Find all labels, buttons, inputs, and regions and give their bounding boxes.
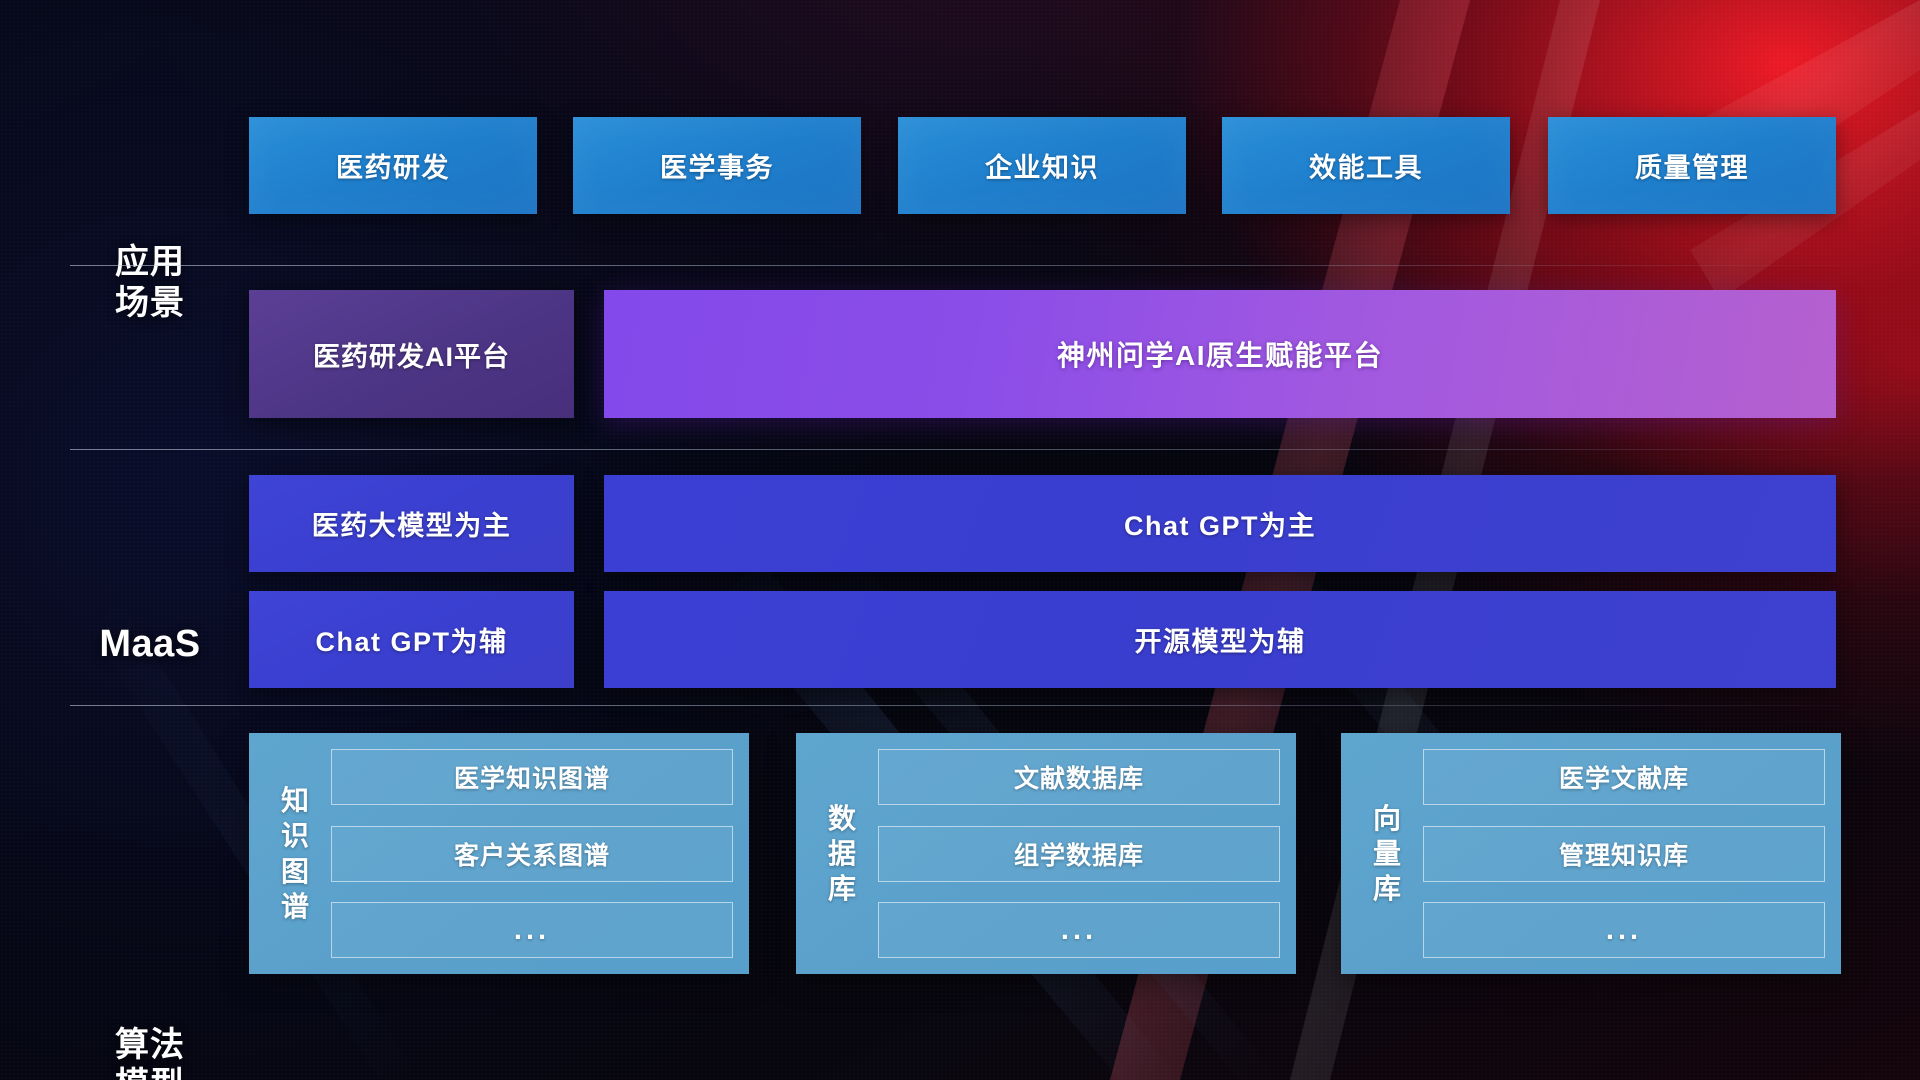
scene-box-2[interactable]: 医学事务 — [573, 117, 861, 214]
row-label-line-1: 应用 — [70, 242, 230, 282]
knowledge-card-2-title: 数据库 — [806, 747, 878, 960]
scene-box-5-label: 质量管理 — [1635, 146, 1749, 185]
divider-3 — [70, 705, 1842, 706]
algo-band-2-left[interactable]: Chat GPT为辅 — [249, 591, 574, 688]
knowledge-card-2-item-1-label: 文献数据库 — [1014, 759, 1144, 795]
knowledge-card-3-item-1-label: 医学文献库 — [1559, 759, 1689, 795]
knowledge-card-2-title-text: 数据库 — [828, 801, 856, 907]
architecture-diagram: 应用 场景 医药研发 医学事务 企业知识 效能工具 质量管理 MaaS — [0, 0, 1920, 1080]
knowledge-card-3-items: 医学文献库 管理知识库 ... — [1423, 747, 1825, 960]
knowledge-card-vector-store[interactable]: 向量库 医学文献库 管理知识库 ... — [1341, 733, 1841, 974]
row-application-scenarios: 应用 场景 医药研发 医学事务 企业知识 效能工具 质量管理 — [0, 117, 1920, 214]
row-knowledge-data: 知识 数据 知识图谱 医学知识图谱 客户关系图谱 ... — [0, 733, 1920, 974]
scene-box-4[interactable]: 效能工具 — [1222, 117, 1510, 214]
knowledge-card-3-title-text: 向量库 — [1373, 801, 1401, 907]
knowledge-card-2-item-3[interactable]: ... — [878, 902, 1280, 958]
row-maas: MaaS 医药研发AI平台 神州问学AI原生赋能平台 — [0, 290, 1920, 418]
scene-box-2-label: 医学事务 — [660, 146, 774, 185]
maas-native-platform-label: 神州问学AI原生赋能平台 — [1057, 334, 1383, 374]
knowledge-card-3-item-2[interactable]: 管理知识库 — [1423, 826, 1825, 882]
row-algorithm-model: 算法 模型 医药大模型为主 Chat GPT为主 Chat GPT为辅 开源模型… — [0, 475, 1920, 705]
maas-platform-label: 医药研发AI平台 — [313, 335, 510, 374]
algo-band-1-right[interactable]: Chat GPT为主 — [604, 475, 1836, 572]
algo-band-2-left-label: Chat GPT为辅 — [315, 620, 507, 659]
maas-platform-box[interactable]: 医药研发AI平台 — [249, 290, 574, 418]
scene-box-3[interactable]: 企业知识 — [898, 117, 1186, 214]
knowledge-card-2-item-3-label: ... — [1061, 914, 1097, 947]
divider-2 — [70, 449, 1842, 450]
knowledge-card-database[interactable]: 数据库 文献数据库 组学数据库 ... — [796, 733, 1296, 974]
scene-box-5[interactable]: 质量管理 — [1548, 117, 1836, 214]
divider-1 — [70, 265, 1842, 266]
slide-canvas: 应用 场景 医药研发 医学事务 企业知识 效能工具 质量管理 MaaS — [0, 0, 1920, 1080]
knowledge-card-1-item-2[interactable]: 客户关系图谱 — [331, 826, 733, 882]
scene-box-1[interactable]: 医药研发 — [249, 117, 537, 214]
knowledge-card-2-items: 文献数据库 组学数据库 ... — [878, 747, 1280, 960]
knowledge-card-1-title-text: 知识图谱 — [281, 783, 309, 924]
algo-band-2-right[interactable]: 开源模型为辅 — [604, 591, 1836, 688]
knowledge-card-1-item-1[interactable]: 医学知识图谱 — [331, 749, 733, 805]
knowledge-card-1-item-3-label: ... — [514, 914, 550, 947]
knowledge-card-3-item-1[interactable]: 医学文献库 — [1423, 749, 1825, 805]
scene-box-4-label: 效能工具 — [1309, 146, 1423, 185]
scene-box-1-label: 医药研发 — [336, 146, 450, 185]
algo-band-1-right-label: Chat GPT为主 — [1124, 504, 1316, 543]
algo-band-1-left-label: 医药大模型为主 — [312, 504, 512, 543]
knowledge-card-1-item-3[interactable]: ... — [331, 902, 733, 958]
knowledge-card-1-item-2-label: 客户关系图谱 — [454, 836, 610, 872]
knowledge-card-2-item-2-label: 组学数据库 — [1014, 836, 1144, 872]
knowledge-card-3-item-2-label: 管理知识库 — [1559, 836, 1689, 872]
knowledge-card-1-items: 医学知识图谱 客户关系图谱 ... — [331, 747, 733, 960]
maas-native-platform-box[interactable]: 神州问学AI原生赋能平台 — [604, 290, 1836, 418]
algo-band-2-right-label: 开源模型为辅 — [1135, 620, 1306, 659]
knowledge-card-1-item-1-label: 医学知识图谱 — [454, 759, 610, 795]
scene-box-3-label: 企业知识 — [985, 146, 1099, 185]
knowledge-card-3-item-3[interactable]: ... — [1423, 902, 1825, 958]
row-label-algo-line-2: 模型 — [70, 1065, 230, 1080]
knowledge-card-3-item-3-label: ... — [1606, 914, 1642, 947]
knowledge-card-1-title: 知识图谱 — [259, 747, 331, 960]
knowledge-card-3-title: 向量库 — [1351, 747, 1423, 960]
knowledge-card-knowledge-graph[interactable]: 知识图谱 医学知识图谱 客户关系图谱 ... — [249, 733, 749, 974]
row-label-algo-line-1: 算法 — [70, 1025, 230, 1065]
knowledge-card-2-item-2[interactable]: 组学数据库 — [878, 826, 1280, 882]
algo-band-1-left[interactable]: 医药大模型为主 — [249, 475, 574, 572]
knowledge-card-2-item-1[interactable]: 文献数据库 — [878, 749, 1280, 805]
